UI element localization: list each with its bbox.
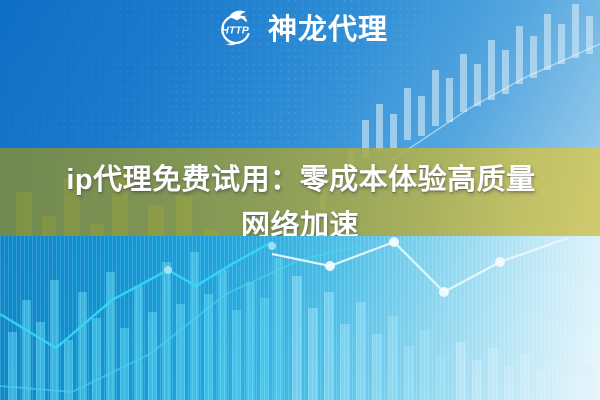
promo-banner: ip代理免费试用：零成本体验高质量 网络加速 xyxy=(0,0,600,400)
brand-logo: HTTP 神龙代理 xyxy=(213,7,388,53)
analytics-chart-panel xyxy=(0,236,600,400)
brand-name: 神龙代理 xyxy=(268,16,388,45)
http-dragon-emblem-icon: HTTP xyxy=(213,8,259,52)
headline-line-1: ip代理免费试用：零成本体验高质量 xyxy=(66,157,535,203)
pinstripe-texture xyxy=(0,236,600,400)
logo-mark-label: HTTP xyxy=(221,25,249,37)
